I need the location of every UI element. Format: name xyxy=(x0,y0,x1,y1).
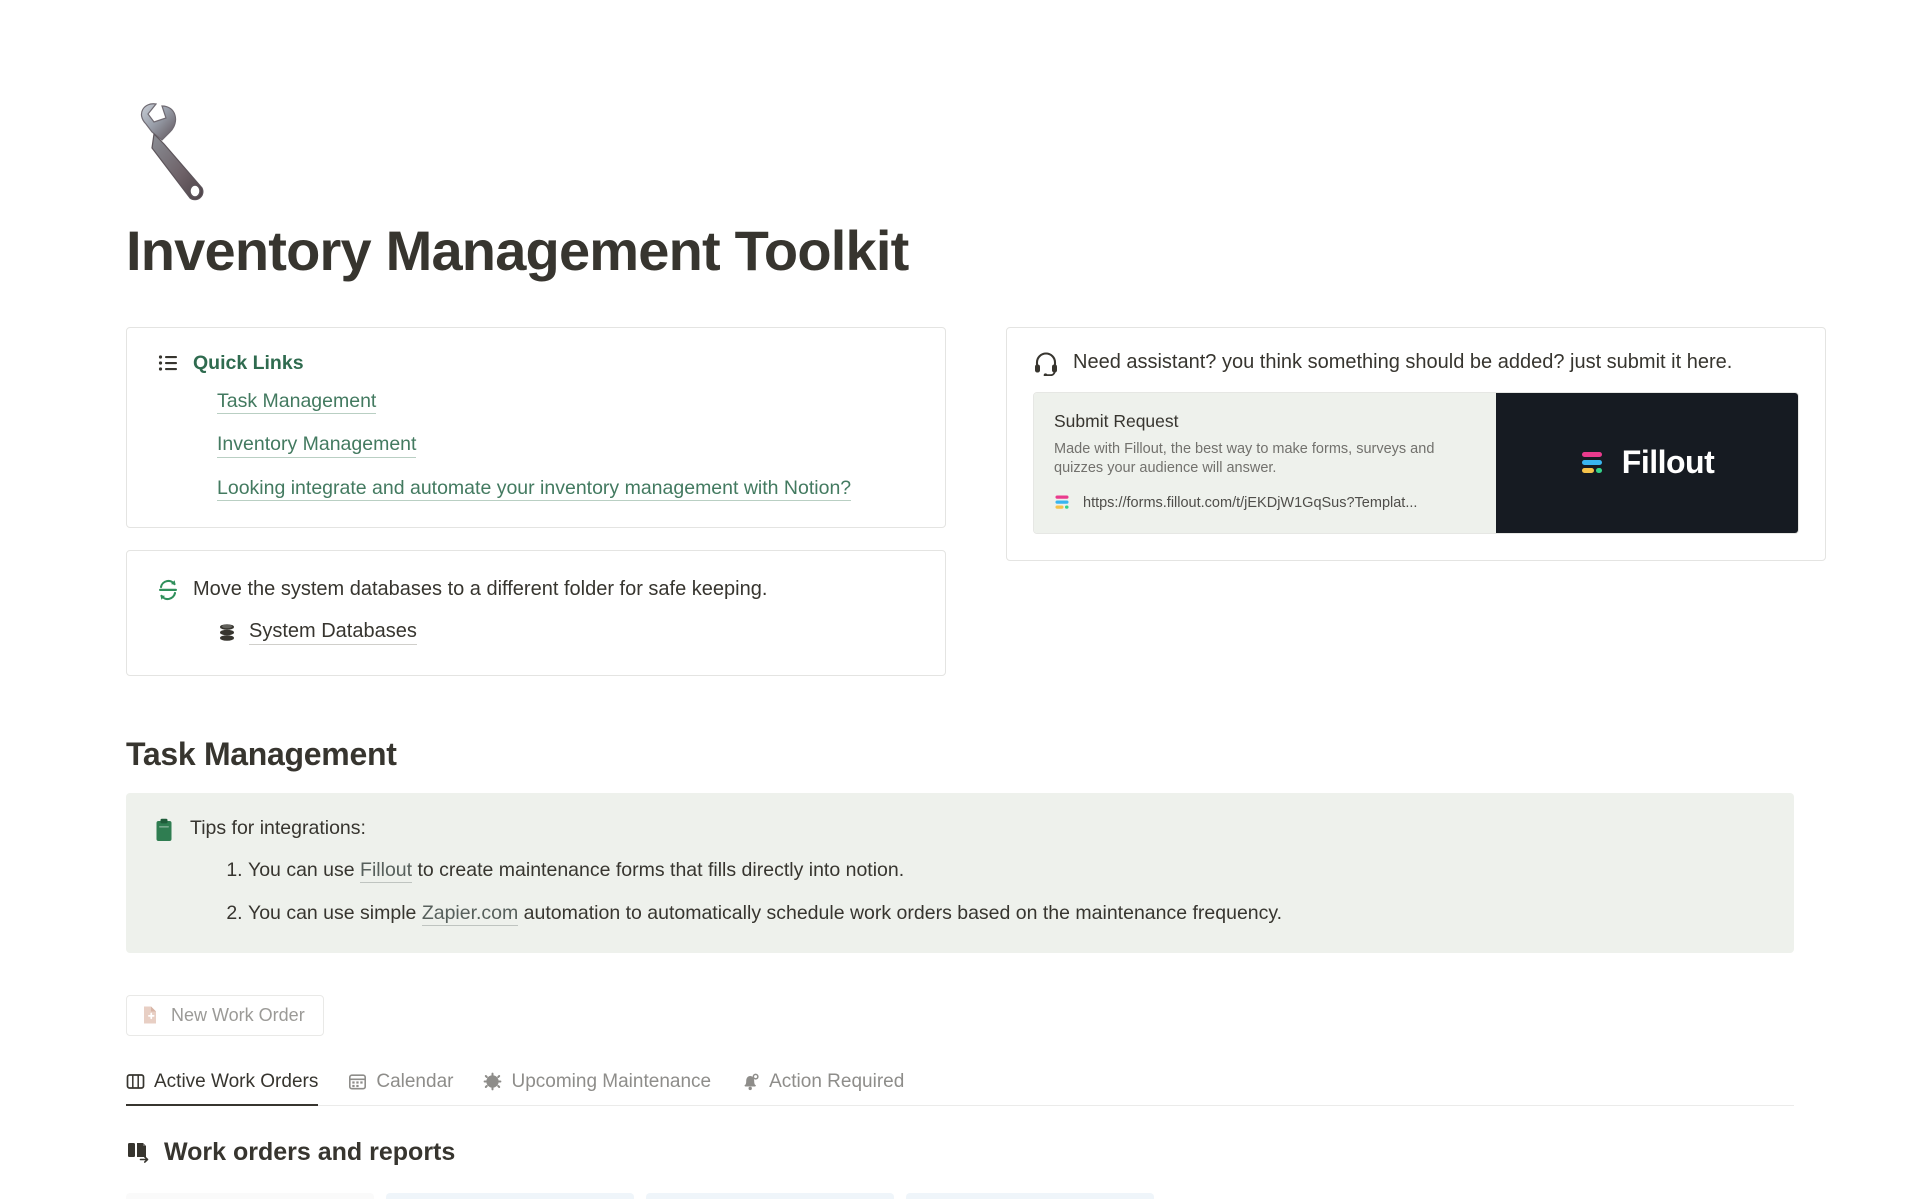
board-column-reviewing: Reviewing 0 xyxy=(646,1193,894,1199)
system-databases-note: Move the system databases to a different… xyxy=(157,577,915,602)
new-document-icon xyxy=(141,1005,159,1025)
quick-link-notion-automation[interactable]: Looking integrate and automate your inve… xyxy=(217,478,851,501)
system-databases-card: Move the system databases to a different… xyxy=(126,550,946,676)
board-column-header[interactable]: Reviewing 0 xyxy=(646,1193,894,1199)
right-column: Need assistant? you think something shou… xyxy=(1006,327,1826,561)
board-column-header[interactable]: Planned 0 xyxy=(126,1193,374,1199)
tip-2-link-zapier[interactable]: Zapier.com xyxy=(422,902,518,926)
quick-links-header: Quick Links xyxy=(157,352,915,375)
tab-upcoming-maintenance[interactable]: Upcoming Maintenance xyxy=(483,1065,711,1106)
quick-links-card: Quick Links Task Management Inventory Ma… xyxy=(126,327,946,528)
tab-upcoming-maintenance-label: Upcoming Maintenance xyxy=(511,1071,711,1093)
system-databases-link-row[interactable]: System Databases xyxy=(157,620,915,645)
board-column-planned: Planned 0 xyxy=(126,1193,374,1199)
tab-action-required-label: Action Required xyxy=(769,1071,904,1093)
board-column-header[interactable]: Performing 0 xyxy=(386,1193,634,1199)
tip-item-2: You can use simple Zapier.com automation… xyxy=(248,901,1766,926)
tips-callout-header: Tips for integrations: xyxy=(154,817,1766,842)
tab-action-required[interactable]: Action Required xyxy=(741,1065,904,1106)
calendar-icon xyxy=(348,1072,367,1091)
tab-calendar-label: Calendar xyxy=(376,1071,453,1093)
embed-details: Submit Request Made with Fillout, the be… xyxy=(1034,393,1496,533)
notion-page: Inventory Management Toolkit xyxy=(0,0,1920,1199)
tip-2-after: automation to automatically schedule wor… xyxy=(518,902,1282,924)
tip-1-before: You can use xyxy=(248,859,360,881)
view-tabs: Active Work Orders Calendar xyxy=(126,1064,1794,1106)
tips-callout-title: Tips for integrations: xyxy=(190,817,366,840)
board-title-row: Work orders and reports xyxy=(126,1138,1794,1167)
section-title: Task Management xyxy=(126,736,1794,773)
support-header: Need assistant? you think something shou… xyxy=(1033,350,1799,376)
board-columns-icon xyxy=(126,1072,145,1091)
quick-link-task-management[interactable]: Task Management xyxy=(217,391,376,414)
system-databases-link[interactable]: System Databases xyxy=(249,620,417,645)
tip-2-before: You can use simple xyxy=(248,902,422,924)
page-header: Inventory Management Toolkit xyxy=(0,0,1920,283)
embed-brand-panel: Fillout xyxy=(1496,393,1798,533)
new-work-order-button[interactable]: New Work Order xyxy=(126,995,324,1036)
system-databases-text: Move the system databases to a different… xyxy=(193,577,767,601)
clipboard-icon xyxy=(154,818,174,842)
bulleted-list-icon xyxy=(157,352,179,374)
embed-url-row[interactable]: https://forms.fillout.com/t/jEKDjW1GqSus… xyxy=(1054,493,1476,512)
fillout-logo-icon xyxy=(1054,493,1073,512)
support-card: Need assistant? you think something shou… xyxy=(1006,327,1826,561)
wrench-emoji xyxy=(126,100,246,208)
tips-list: You can use Fillout to create maintenanc… xyxy=(154,858,1766,927)
task-management-section: Task Management Tips for integrations: Y… xyxy=(0,736,1920,1199)
left-column: Quick Links Task Management Inventory Ma… xyxy=(126,327,946,676)
embed-url[interactable]: https://forms.fillout.com/t/jEKDjW1GqSus… xyxy=(1083,495,1417,511)
top-cards-row: Quick Links Task Management Inventory Ma… xyxy=(0,327,1920,676)
tab-active-work-orders[interactable]: Active Work Orders xyxy=(126,1065,318,1106)
tip-1-after: to create maintenance forms that fills d… xyxy=(412,859,904,881)
database-link-icon xyxy=(126,1139,152,1165)
kanban-board: Planned 0 Performing 0 xyxy=(126,1193,1794,1199)
page-title: Inventory Management Toolkit xyxy=(126,220,1920,283)
sync-arrows-icon xyxy=(157,578,179,602)
embed-title: Submit Request xyxy=(1054,411,1476,432)
headset-icon xyxy=(1033,350,1059,376)
quick-link-inventory-management[interactable]: Inventory Management xyxy=(217,434,416,457)
new-work-order-label: New Work Order xyxy=(171,1005,305,1026)
quick-links-heading: Quick Links xyxy=(193,352,304,375)
gear-icon xyxy=(483,1072,502,1091)
fillout-brand-logo-icon xyxy=(1580,448,1610,478)
tip-1-link-fillout[interactable]: Fillout xyxy=(360,859,412,883)
board-column-de-snagging: De-snagging 2 xyxy=(906,1193,1154,1199)
embed-description: Made with Fillout, the best way to make … xyxy=(1054,440,1474,479)
tip-item-1: You can use Fillout to create maintenanc… xyxy=(248,858,1766,883)
board-title: Work orders and reports xyxy=(164,1138,455,1167)
tab-active-work-orders-label: Active Work Orders xyxy=(154,1071,318,1093)
board-column-performing: Performing 0 xyxy=(386,1193,634,1199)
tips-callout: Tips for integrations: You can use Fillo… xyxy=(126,793,1794,953)
board-column-header[interactable]: De-snagging 2 xyxy=(906,1193,1154,1199)
support-text: Need assistant? you think something shou… xyxy=(1073,351,1732,374)
database-stack-icon xyxy=(217,622,237,644)
quick-links-list: Task Management Inventory Management Loo… xyxy=(157,391,915,501)
fillout-brand-name: Fillout xyxy=(1622,444,1714,481)
fillout-embed[interactable]: Submit Request Made with Fillout, the be… xyxy=(1033,392,1799,534)
tab-calendar[interactable]: Calendar xyxy=(348,1065,453,1106)
hidden-groups: Hidden groups Archived 0 xyxy=(1206,1193,1335,1199)
bell-alert-icon xyxy=(741,1072,760,1091)
